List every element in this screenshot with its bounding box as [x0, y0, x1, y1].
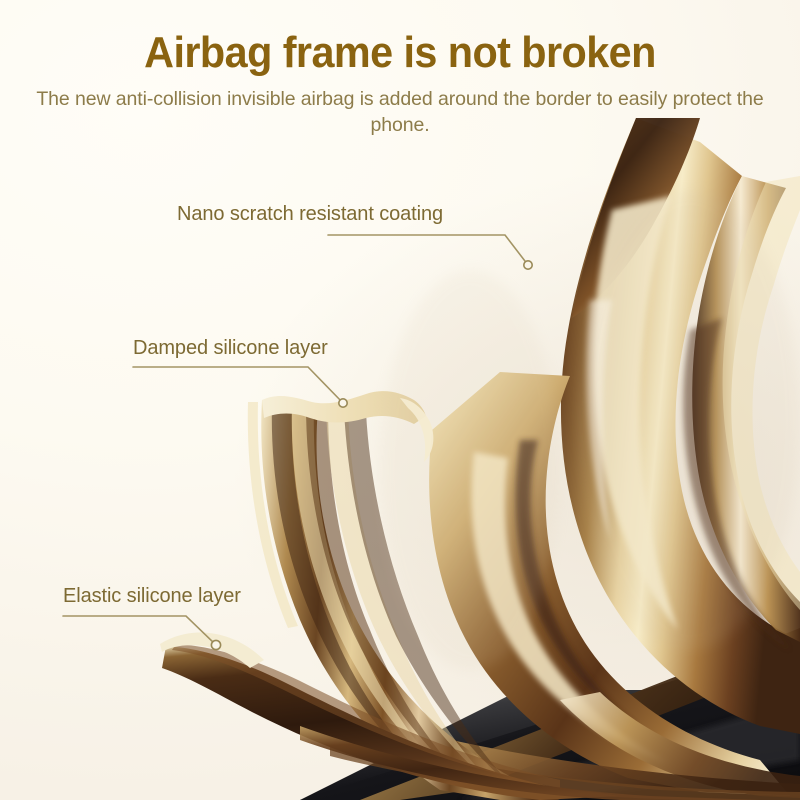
callout-marker-nano	[524, 261, 532, 269]
callout-leader-lines	[0, 0, 800, 800]
callout-label-elastic-silicone-layer: Elastic silicone layer	[63, 584, 241, 608]
callout-marker-elastic	[211, 640, 220, 649]
callout-marker-damped	[339, 399, 347, 407]
leader-line-nano	[328, 235, 528, 265]
product-feature-image: Airbag frame is not broken The new anti-…	[0, 0, 800, 800]
leader-line-damped	[133, 367, 343, 403]
callout-label-damped-silicone-layer: Damped silicone layer	[133, 336, 328, 360]
leader-line-elastic	[63, 616, 216, 645]
callout-label-nano-scratch-resistant-coating: Nano scratch resistant coating	[177, 202, 443, 226]
